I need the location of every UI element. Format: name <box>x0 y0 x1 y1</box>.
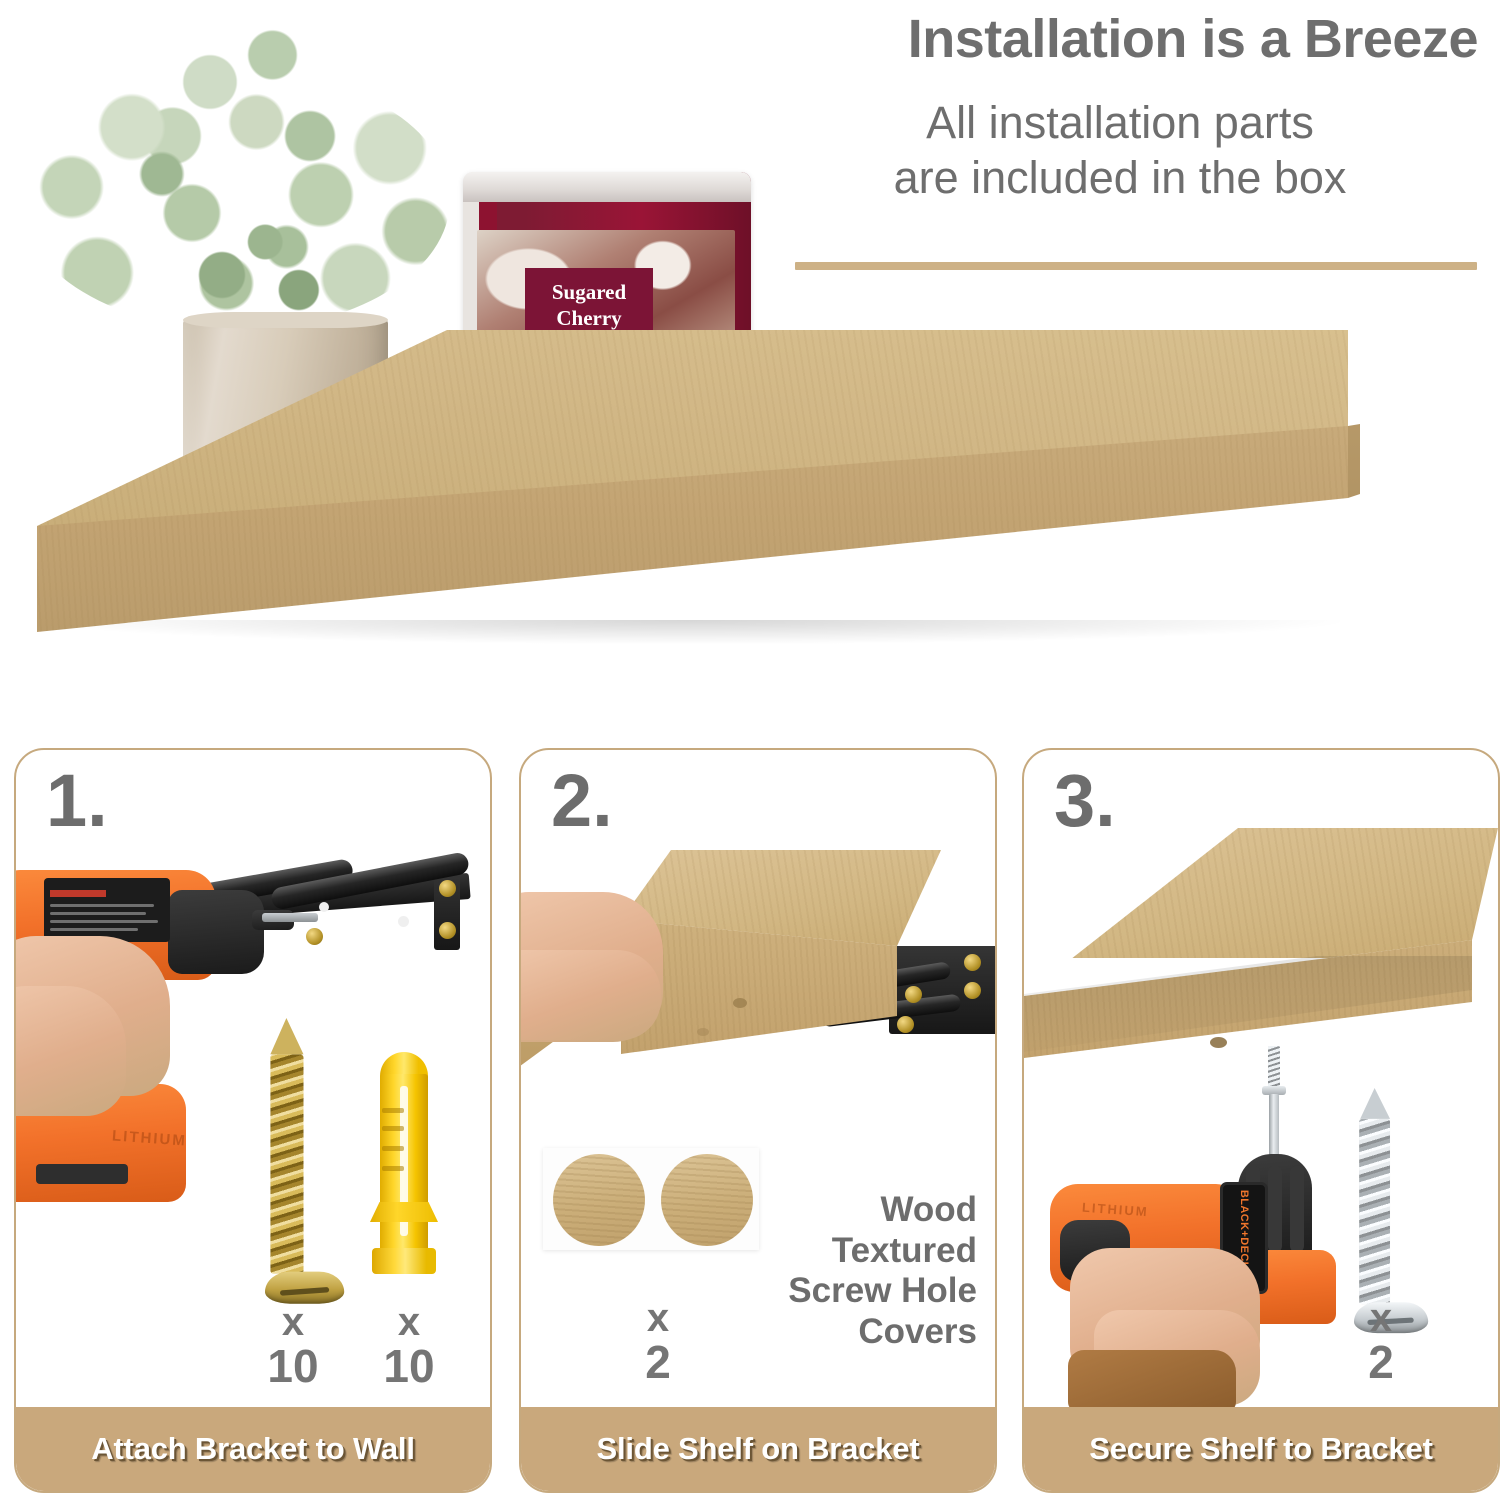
qty-wood-hole-cover: x 2 <box>613 1298 703 1386</box>
qty-value: 10 <box>364 1343 454 1390</box>
step-caption-1-text: Attach Bracket to Wall <box>91 1431 414 1467</box>
qty-value: 10 <box>248 1343 338 1390</box>
step-caption-1: Attach Bracket to Wall <box>16 1407 490 1491</box>
step-panel-1: 1. LITHIUM <box>14 748 492 1493</box>
part-wood-screw-gold <box>265 1018 308 1304</box>
note-line-4: Covers <box>729 1312 977 1353</box>
step-panel-3: 3. BLACK+DECKER LITHIUM x 2 <box>1022 748 1500 1493</box>
step-caption-3: Secure Shelf to Bracket <box>1024 1407 1498 1491</box>
qty-value: 2 <box>613 1339 703 1386</box>
candle-glass-rim <box>463 172 751 202</box>
candle-label-line1: Sugared <box>552 280 626 304</box>
qty-x-label: x <box>364 1302 454 1343</box>
header-divider <box>795 262 1477 270</box>
note-line-2: Textured <box>729 1231 977 1272</box>
step-caption-2-text: Slide Shelf on Bracket <box>597 1431 920 1467</box>
qty-x-label: x <box>248 1302 338 1343</box>
sleeve-cuff <box>1068 1350 1236 1412</box>
page-subtitle: All installation parts are included in t… <box>770 96 1470 206</box>
subtitle-line-2: are included in the box <box>770 151 1470 206</box>
qty-screw-silver: x 2 <box>1336 1298 1426 1386</box>
qty-wall-anchor-yellow: x 10 <box>364 1302 454 1390</box>
subtitle-line-1: All installation parts <box>770 96 1470 151</box>
step-number-3: 3. <box>1054 764 1116 838</box>
qty-x-label: x <box>1336 1298 1426 1339</box>
qty-value: 2 <box>1336 1339 1426 1386</box>
step-number-2: 2. <box>551 764 613 838</box>
note-line-3: Screw Hole <box>729 1271 977 1312</box>
step-caption-2: Slide Shelf on Bracket <box>521 1407 995 1491</box>
page-title: Installation is a Breeze <box>908 8 1478 70</box>
drill-warning-label <box>44 878 170 942</box>
wood-hole-cover-dot <box>553 1154 645 1246</box>
qty-wood-screw-gold: x 10 <box>248 1302 338 1390</box>
qty-x-label: x <box>613 1298 703 1339</box>
hero-section: Sugared Cherry Crisp scented candle Bath… <box>0 0 1500 700</box>
part-wood-hole-cover-box <box>543 1148 759 1250</box>
step-panel-2: 2. x 2 Wood Textured Screw Hole Covers S… <box>519 748 997 1493</box>
shelf-shadow <box>40 620 1340 644</box>
floating-shelf-hero <box>0 330 1400 680</box>
step-number-1: 1. <box>46 764 108 838</box>
step-caption-3-text: Secure Shelf to Bracket <box>1089 1431 1432 1467</box>
part-wall-anchor-yellow <box>368 1052 440 1276</box>
wood-cover-note: Wood Textured Screw Hole Covers <box>729 1190 977 1352</box>
note-line-1: Wood <box>729 1190 977 1231</box>
candle-label-line2: Cherry <box>556 306 621 330</box>
